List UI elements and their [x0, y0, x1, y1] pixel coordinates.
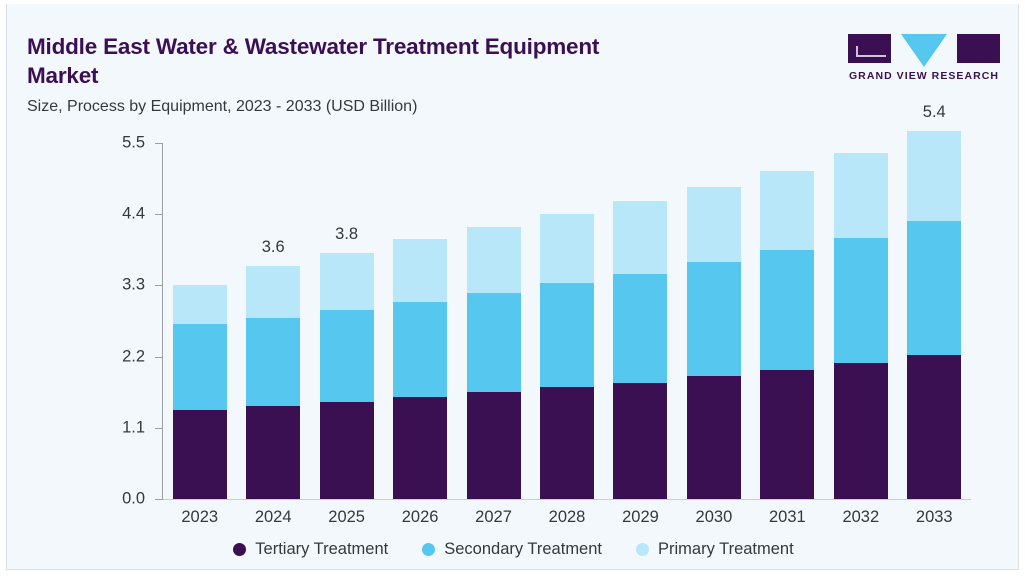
bar-segment[interactable]	[540, 387, 594, 499]
bar-group[interactable]	[393, 239, 447, 499]
legend-color-swatch	[422, 543, 435, 556]
bar-segment[interactable]	[467, 293, 521, 393]
bar-segment[interactable]	[246, 318, 300, 407]
bar-segment[interactable]	[540, 214, 594, 283]
legend-label: Secondary Treatment	[444, 540, 602, 559]
chart-legend: Tertiary TreatmentSecondary TreatmentPri…	[7, 540, 1019, 559]
y-tick-label: 0.0	[75, 490, 145, 509]
legend-item[interactable]: Secondary Treatment	[422, 540, 602, 559]
legend-label: Tertiary Treatment	[255, 540, 388, 559]
bar-segment[interactable]	[393, 239, 447, 302]
y-tick-mark	[155, 499, 163, 500]
legend-item[interactable]: Tertiary Treatment	[233, 540, 388, 559]
bar-segment[interactable]	[467, 392, 521, 499]
y-tick-mark	[155, 428, 163, 429]
bar-segment[interactable]	[393, 397, 447, 499]
bar-segment[interactable]	[760, 370, 814, 499]
bar-segment[interactable]	[613, 201, 667, 273]
x-axis-line	[162, 499, 971, 500]
bar-segment[interactable]	[173, 285, 227, 324]
bar-segment[interactable]	[613, 383, 667, 500]
plot-area	[163, 143, 971, 499]
logo-triangle-icon	[901, 34, 947, 67]
bar-segment[interactable]	[834, 363, 888, 499]
bar-segment[interactable]	[540, 283, 594, 387]
grand-view-research-logo: GRAND VIEW RESEARCH	[848, 34, 1000, 90]
bar-segment[interactable]	[393, 302, 447, 398]
y-tick-label: 2.2	[75, 347, 145, 366]
bar-segment[interactable]	[760, 250, 814, 370]
y-tick-label: 3.3	[75, 276, 145, 295]
bar-segment[interactable]	[687, 187, 741, 262]
legend-color-swatch	[636, 543, 649, 556]
bar-segment[interactable]	[760, 171, 814, 251]
page-title: Middle East Water & Wastewater Treatment…	[27, 32, 667, 90]
bar-segment[interactable]	[907, 221, 961, 355]
bar-group[interactable]	[613, 201, 667, 499]
bar-segment[interactable]	[687, 376, 741, 499]
logo-g-mark-icon	[856, 46, 886, 57]
bar-segment[interactable]	[246, 406, 300, 499]
bar-group[interactable]	[834, 153, 888, 499]
bar-segment[interactable]	[320, 402, 374, 499]
bar-group[interactable]	[320, 253, 374, 499]
x-tick-label: 2033	[891, 508, 977, 527]
y-tick-label: 1.1	[75, 418, 145, 437]
bar-group[interactable]	[246, 266, 300, 499]
y-tick-mark	[155, 357, 163, 358]
chart-header: Middle East Water & Wastewater Treatment…	[7, 10, 1018, 122]
bar-group[interactable]	[760, 171, 814, 499]
bar-segment[interactable]	[320, 253, 374, 310]
legend-label: Primary Treatment	[658, 540, 794, 559]
bar-segment[interactable]	[613, 274, 667, 383]
bar-group[interactable]	[467, 227, 521, 499]
bar-segment[interactable]	[907, 131, 961, 221]
bar-group[interactable]	[687, 187, 741, 499]
bar-segment[interactable]	[246, 266, 300, 318]
bar-segment[interactable]	[173, 324, 227, 409]
y-tick-mark	[155, 143, 163, 144]
logo-block-left	[848, 34, 891, 63]
chart-subtitle: Size, Process by Equipment, 2023 - 2033 …	[27, 98, 417, 116]
bar-value-label: 5.4	[891, 103, 977, 122]
chart-card: Middle East Water & Wastewater Treatment…	[6, 4, 1019, 570]
legend-item[interactable]: Primary Treatment	[636, 540, 794, 559]
y-tick-label: 4.4	[75, 205, 145, 224]
bar-segment[interactable]	[907, 355, 961, 499]
bar-segment[interactable]	[834, 153, 888, 237]
bar-value-label: 3.8	[304, 225, 390, 244]
legend-color-swatch	[233, 543, 246, 556]
bar-group[interactable]	[907, 131, 961, 499]
y-tick-label: 5.5	[75, 134, 145, 153]
bar-segment[interactable]	[834, 238, 888, 364]
bar-group[interactable]	[540, 214, 594, 499]
y-tick-mark	[155, 285, 163, 286]
logo-block-right	[957, 34, 1000, 63]
y-tick-mark	[155, 214, 163, 215]
bar-segment[interactable]	[467, 227, 521, 293]
bar-group[interactable]	[173, 285, 227, 499]
logo-wordmark: GRAND VIEW RESEARCH	[848, 70, 1000, 82]
bar-segment[interactable]	[687, 262, 741, 376]
bar-segment[interactable]	[173, 410, 227, 499]
bar-segment[interactable]	[320, 310, 374, 402]
